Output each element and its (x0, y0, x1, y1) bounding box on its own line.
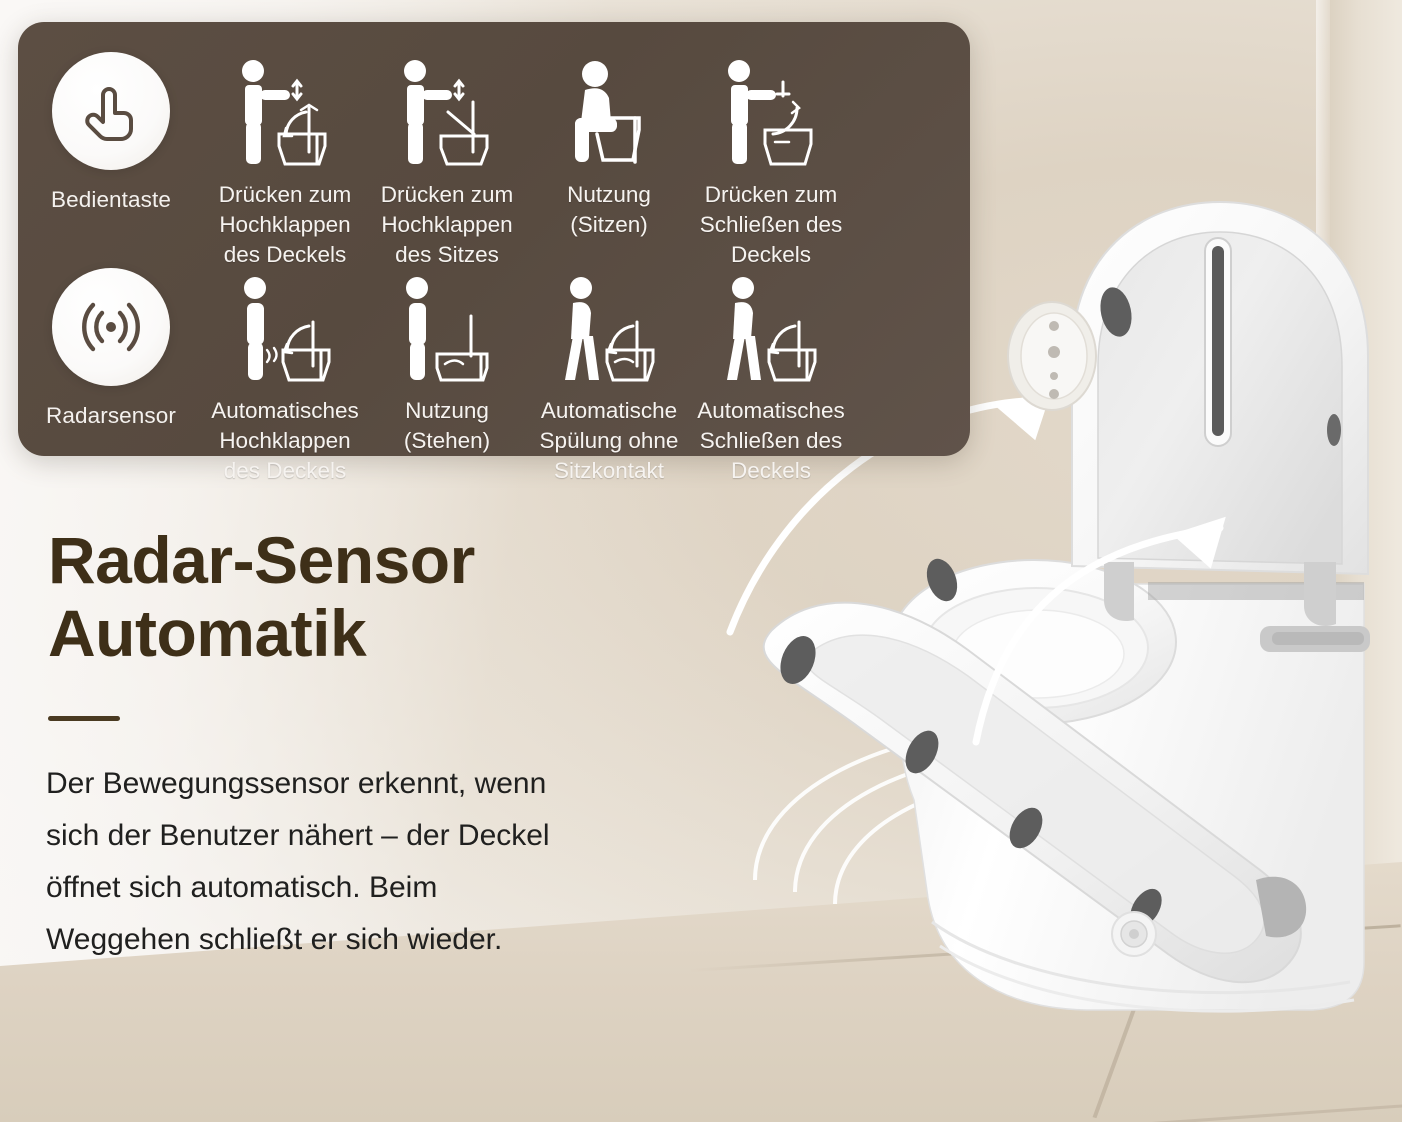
badge-radarsensor: Radarsensor (18, 268, 204, 429)
step-label: Automatisches Hochklappen des Deckels (211, 396, 359, 486)
infographic-canvas: Bedientaste (0, 0, 1402, 1122)
radar-waves-icon (52, 268, 170, 386)
body-description: Der Bewegungssensor erkennt, wenn sich d… (46, 758, 656, 966)
page-title: Radar-Sensor Automatik (48, 524, 688, 669)
toilet-lid-open (1072, 202, 1368, 626)
step-press-seat-open: Drücken zum Hochklappen des Sitzes (366, 52, 528, 270)
wall-remote-control (1008, 302, 1096, 410)
person-walk-auto-flush-icon (555, 268, 663, 388)
person-sitting-icon (555, 52, 663, 172)
step-label: Automatische Spülung ohne Sitzkontakt (540, 396, 679, 486)
step-auto-lid-close: Automatisches Schließen des Deckels (690, 268, 852, 486)
step-label: Drücken zum Schließen des Deckels (700, 180, 843, 270)
panel-row-radar-mode: Radarsensor (18, 268, 970, 486)
step-label: Drücken zum Hochklappen des Sitzes (381, 180, 514, 270)
person-standing-use-icon (393, 268, 501, 388)
step-label: Drücken zum Hochklappen des Deckels (219, 180, 352, 270)
person-walk-auto-close-icon (717, 268, 825, 388)
person-press-lid-open-icon (231, 52, 339, 172)
person-press-lid-close-icon (717, 52, 825, 172)
pointing-hand-icon (52, 52, 170, 170)
step-use-standing: Nutzung (Stehen) (366, 268, 528, 456)
step-label: Nutzung (Stehen) (404, 396, 490, 456)
person-press-seat-open-icon (393, 52, 501, 172)
step-auto-flush: Automatische Spülung ohne Sitzkontakt (528, 268, 690, 486)
badge-bedientaste: Bedientaste (18, 52, 204, 213)
feature-panel: Bedientaste (18, 22, 970, 456)
step-press-lid-close: Drücken zum Schließen des Deckels (690, 52, 852, 270)
step-label: Automatisches Schließen des Deckels (697, 396, 845, 486)
badge-label: Radarsensor (46, 402, 176, 429)
title-divider (48, 716, 120, 721)
base-radar-sensor-port (1112, 912, 1156, 956)
badge-label: Bedientaste (51, 186, 171, 213)
step-use-sitting: Nutzung (Sitzen) (528, 52, 690, 240)
step-auto-lid-open: Automatisches Hochklappen des Deckels (204, 268, 366, 486)
step-press-lid-open: Drücken zum Hochklappen des Deckels (204, 52, 366, 270)
panel-row-button-mode: Bedientaste (18, 52, 970, 270)
person-approach-lid-auto-open-icon (231, 268, 339, 388)
step-label: Nutzung (Sitzen) (567, 180, 651, 240)
